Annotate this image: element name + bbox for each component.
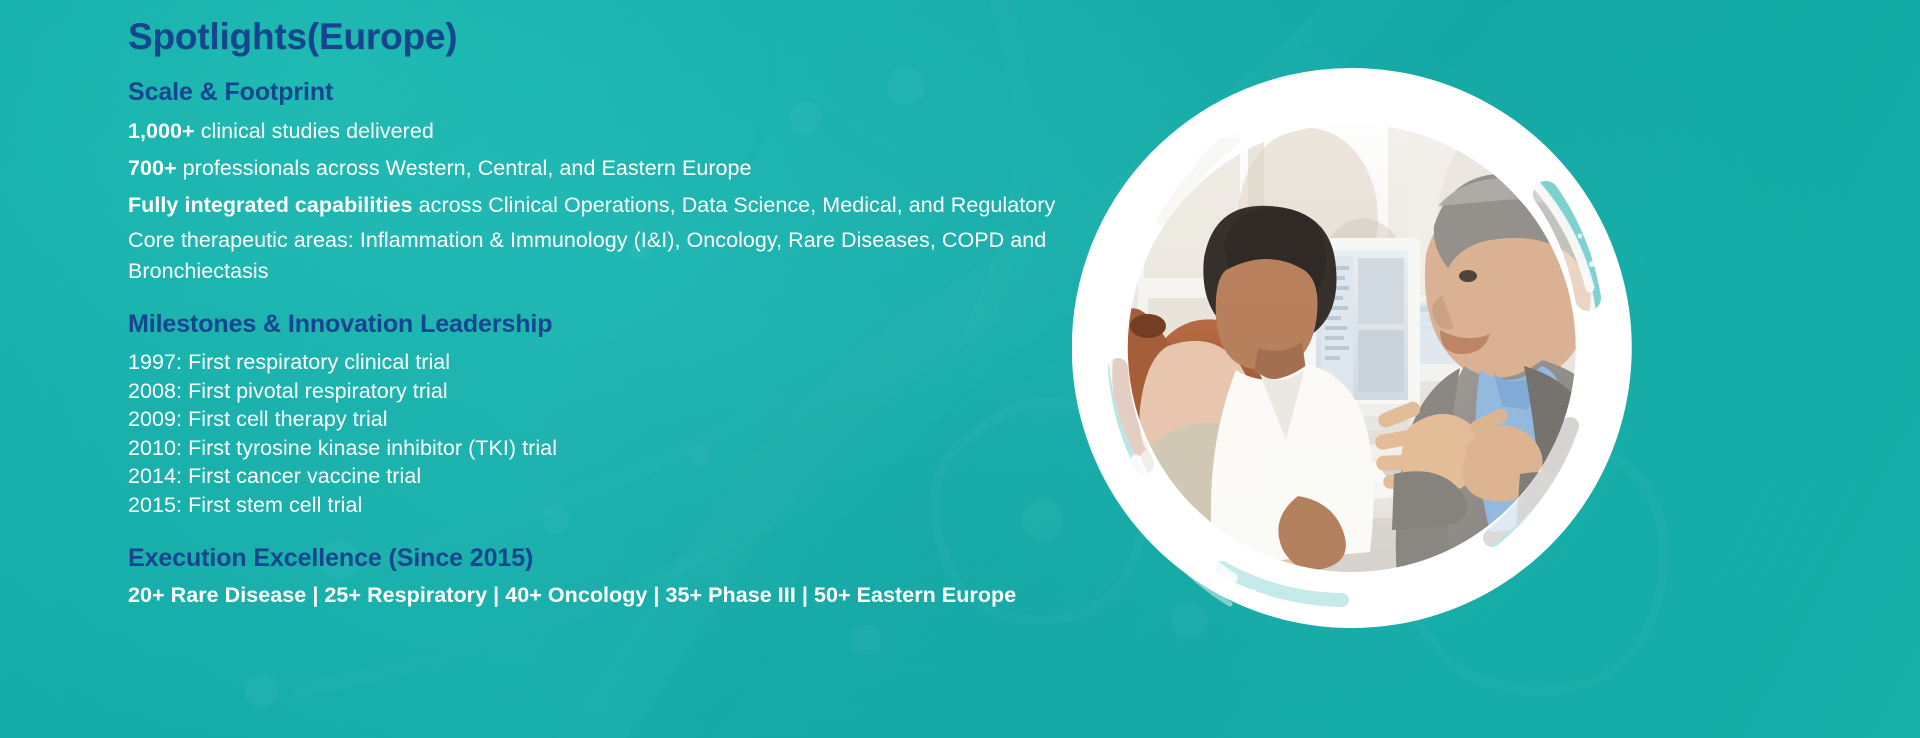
section-heading-scale-footprint: Scale & Footprint — [128, 76, 1188, 109]
stat-text-studies: clinical studies delivered — [195, 119, 434, 143]
stat-value-professionals: 700+ — [128, 156, 177, 180]
milestone-item: 2015: First stem cell trial — [128, 491, 1188, 520]
milestone-item: 2009: First cell therapy trial — [128, 405, 1188, 434]
stat-line-professionals: 700+ professionals across Western, Centr… — [128, 153, 1188, 184]
stat-text-professionals: professionals across Western, Central, a… — [177, 156, 752, 180]
milestone-item: 2010: First tyrosine kinase inhibitor (T… — [128, 434, 1188, 463]
section-heading-milestones: Milestones & Innovation Leadership — [128, 308, 1188, 341]
milestone-item: 1997: First respiratory clinical trial — [128, 348, 1188, 377]
slide-content: Spotlights(Europe) Scale & Footprint 1,0… — [128, 14, 1188, 611]
stat-line-capabilities: Fully integrated capabilities across Cli… — [128, 190, 1188, 221]
slide-canvas: Spotlights(Europe) Scale & Footprint 1,0… — [0, 0, 1920, 738]
section-heading-execution-excellence: Execution Excellence (Since 2015) — [128, 542, 1188, 575]
milestone-item: 2014: First cancer vaccine trial — [128, 462, 1188, 491]
execution-stats-line: 20+ Rare Disease | 25+ Respiratory | 40+… — [128, 580, 1188, 611]
milestone-item: 2008: First pivotal respiratory trial — [128, 377, 1188, 406]
stat-value-capabilities: Fully integrated capabilities — [128, 193, 413, 217]
team-discussion-illustration — [1108, 98, 1598, 588]
stat-text-capabilities: across Clinical Operations, Data Science… — [413, 193, 1056, 217]
stat-line-studies: 1,000+ clinical studies delivered — [128, 116, 1188, 147]
stat-line-therapeutic-areas: Core therapeutic areas: Inflammation & I… — [128, 225, 1058, 287]
stat-value-studies: 1,000+ — [128, 119, 195, 143]
page-title: Spotlights(Europe) — [128, 14, 1188, 60]
photo-medallion — [1072, 68, 1632, 628]
team-discussion-photo — [1108, 98, 1598, 588]
